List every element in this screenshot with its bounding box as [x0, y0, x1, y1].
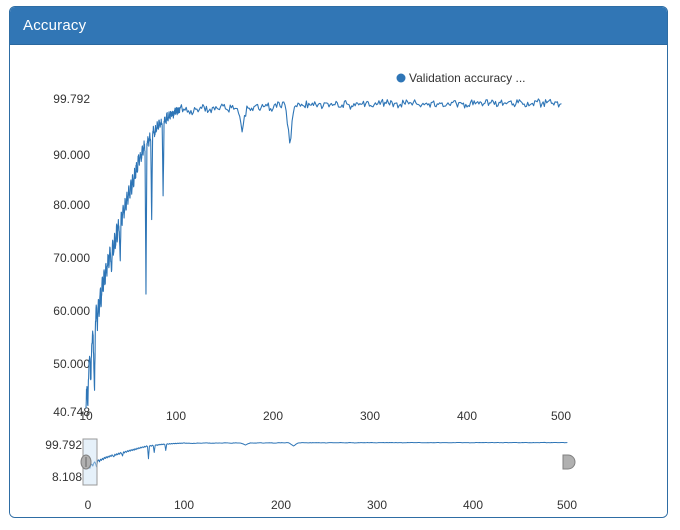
y-tick-label: 70.000	[53, 251, 90, 265]
x-axis-labels-navigator: 0 100 200 300 400 500	[85, 498, 578, 512]
legend-marker-icon	[397, 74, 406, 83]
x-tick-label: 300	[360, 409, 380, 421]
x-tick-label: 500	[551, 409, 571, 421]
navigator-svg[interactable]: 99.792 8.108 0 100 2	[10, 421, 668, 518]
x-tick-label: 400	[457, 409, 477, 421]
y-axis-labels-main: 99.792 90.000 80.000 70.000 60.000 50.00…	[53, 92, 90, 419]
main-chart-svg[interactable]: 99.792 90.000 80.000 70.000 60.000 50.00…	[10, 46, 668, 421]
navigator-series-line	[88, 442, 567, 468]
y-tick-label: 80.000	[53, 198, 90, 212]
range-navigator[interactable]: 99.792 8.108 0 100 2	[10, 421, 668, 518]
x-axis-labels-main: 10 100 200 300 400 500	[79, 409, 571, 421]
x-tick-label: 200	[263, 409, 283, 421]
x-tick-label: 100	[166, 409, 186, 421]
card-header: Accuracy	[10, 7, 667, 45]
x-tick-label: 10	[79, 409, 93, 421]
navigator-y-tick-label: 8.108	[52, 470, 82, 484]
accuracy-card: Accuracy 99.792 90.000 80.000 70.000 60.…	[9, 6, 668, 518]
navigator-x-tick-label: 300	[367, 498, 387, 512]
navigator-x-tick-label: 400	[463, 498, 483, 512]
legend[interactable]: Validation accuracy ...	[397, 71, 526, 85]
navigator-x-tick-label: 100	[174, 498, 194, 512]
range-handle-right-icon[interactable]	[563, 455, 575, 469]
card-body: 99.792 90.000 80.000 70.000 60.000 50.00…	[10, 46, 667, 518]
navigator-x-tick-label: 500	[557, 498, 577, 512]
y-tick-label: 99.792	[53, 92, 90, 106]
screenshot-root: Accuracy 99.792 90.000 80.000 70.000 60.…	[0, 0, 680, 530]
navigator-x-tick-label: 200	[271, 498, 291, 512]
y-tick-label: 60.000	[53, 304, 90, 318]
y-axis-labels-navigator: 99.792 8.108	[45, 438, 82, 484]
y-tick-label: 50.000	[53, 357, 90, 371]
legend-label: Validation accuracy ...	[409, 71, 526, 85]
navigator-y-tick-label: 99.792	[45, 438, 82, 452]
navigator-x-tick-label: 0	[85, 498, 92, 512]
y-tick-label: 90.000	[53, 148, 90, 162]
validation-accuracy-line	[86, 99, 561, 408]
range-handle-left-icon[interactable]	[81, 455, 91, 469]
main-chart[interactable]: 99.792 90.000 80.000 70.000 60.000 50.00…	[10, 46, 668, 421]
page-title: Accuracy	[23, 16, 86, 35]
